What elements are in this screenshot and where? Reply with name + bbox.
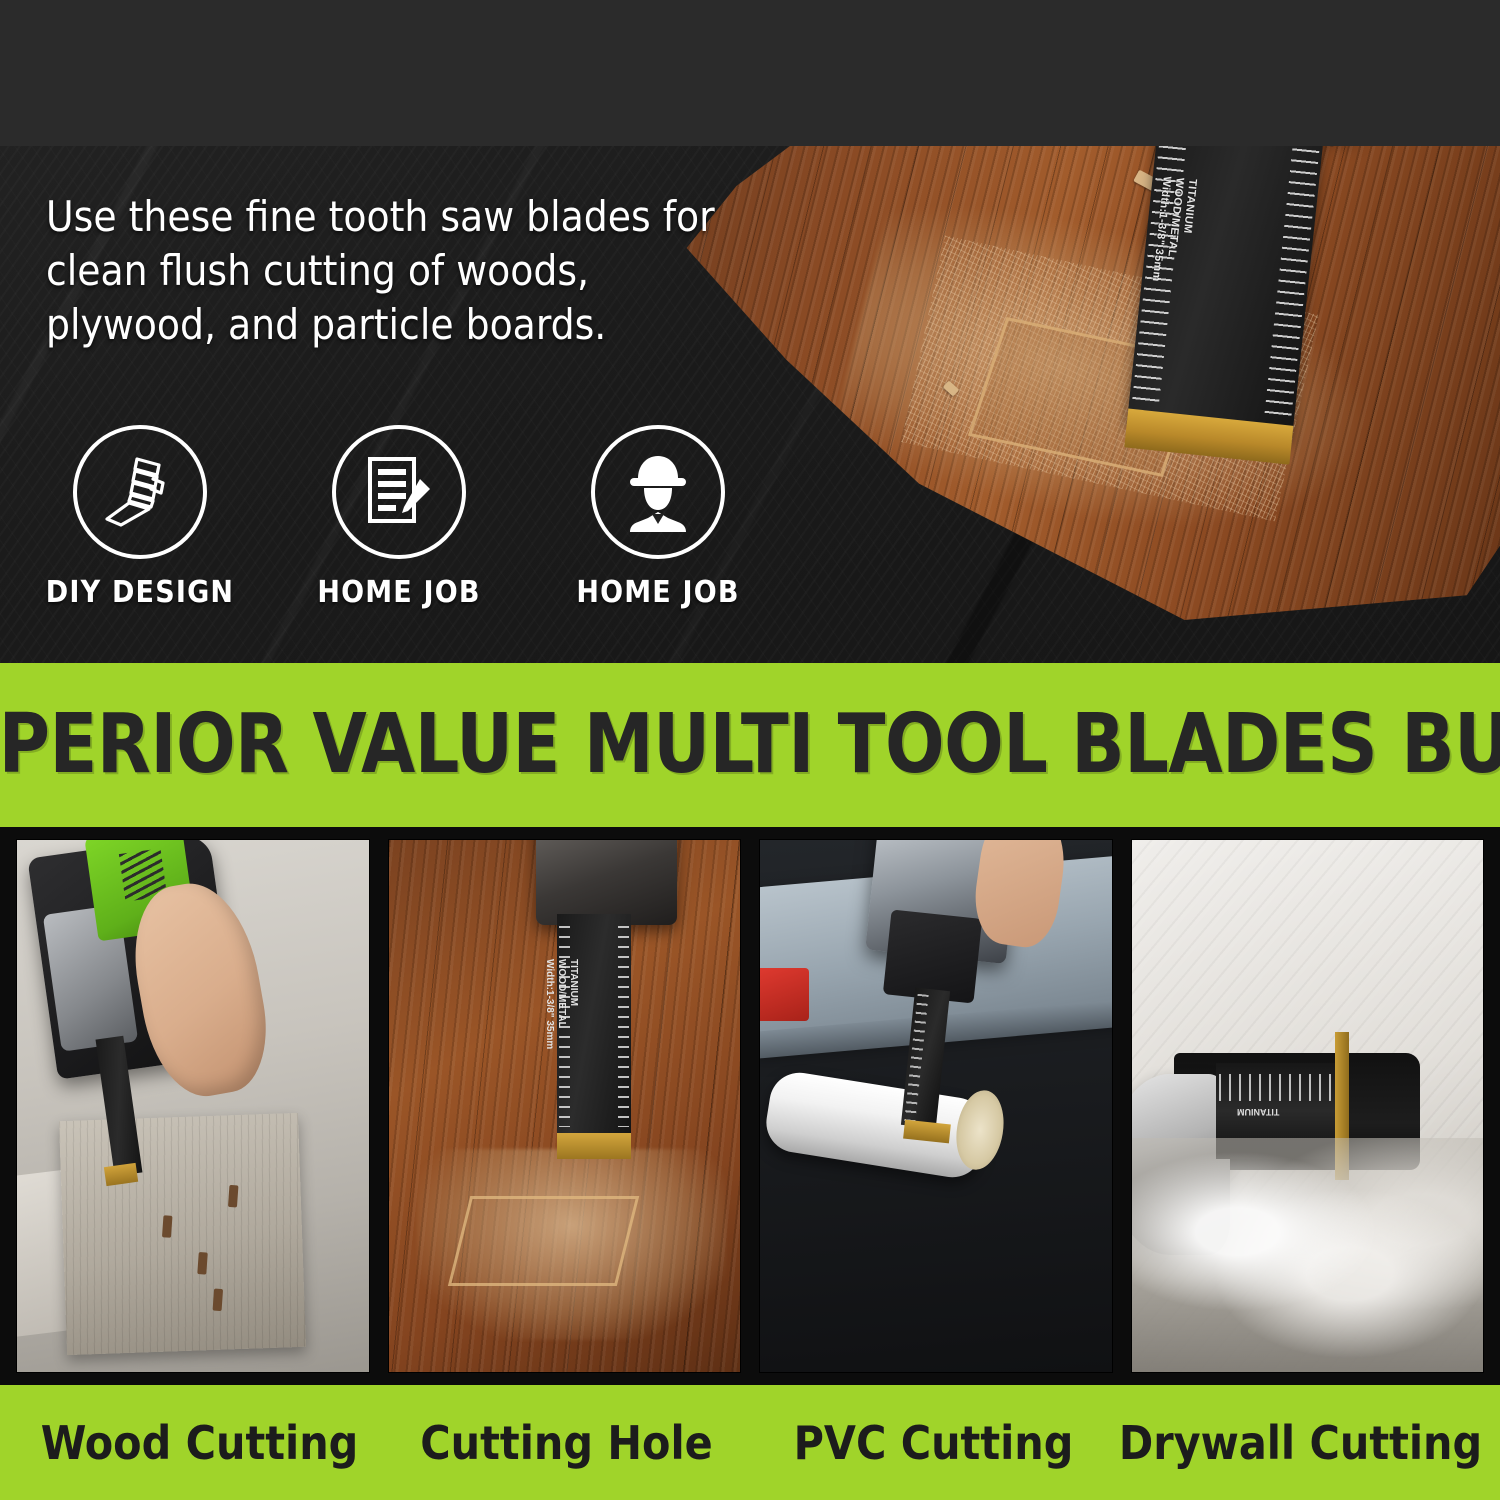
panel2-blade-brand-text: TITANIUM WOOD/METAL Width:1-3/8" 35mm: [543, 959, 579, 1079]
feature-circle: [591, 425, 725, 559]
saw-blade: TITANIUM WOOD/METAL Width:1-3/8" 35mm: [1127, 104, 1326, 442]
nail: [162, 1215, 173, 1238]
panel-cutting-hole: TITANIUM WOOD/METAL Width:1-3/8" 35mm: [388, 839, 742, 1373]
feature-circle: [332, 425, 466, 559]
header-band: [0, 0, 1500, 146]
panel4-blade-brand-text: TITANIUM: [1237, 1106, 1279, 1117]
panel4-blade-ruler: [1219, 1074, 1339, 1101]
feature-icon-row: DIY DESIGN HOME JOB: [40, 425, 758, 610]
panel2-tool-head: [536, 839, 677, 925]
description-text: Use these fine tooth saw blades for clea…: [46, 190, 766, 352]
panel3-red-clamp: [759, 968, 809, 1021]
nail: [228, 1185, 239, 1208]
panel4-blade-line-1: TITANIUM: [1237, 1107, 1279, 1117]
caption-drywall-cutting: Drywall Cutting: [1117, 1416, 1484, 1470]
feature-home-job-worker: HOME JOB: [558, 425, 758, 610]
banner-headline: SUPERIOR VALUE MULTI TOOL BLADES BULK: [0, 704, 1500, 786]
panel2-blade-line-2: WOOD/METAL: [555, 959, 567, 1079]
panel-pvc-cutting: [759, 839, 1113, 1373]
panel1-blade-cutting-edge: [104, 1162, 138, 1185]
oscillating-multi-tool-icon: [97, 449, 183, 535]
panel2-blade-line-3: Width:1-3/8" 35mm: [543, 959, 555, 1079]
feature-label: HOME JOB: [576, 575, 739, 610]
application-photo-grid: TITANIUM WOOD/METAL Width:1-3/8" 35mm: [0, 827, 1500, 1385]
feature-circle: [73, 425, 207, 559]
panel-wood-cutting: [16, 839, 370, 1373]
nail: [212, 1288, 223, 1311]
feature-diy-design: DIY DESIGN: [40, 425, 240, 610]
caption-wood-cutting: Wood Cutting: [16, 1416, 383, 1470]
caption-strip: Wood Cutting Cutting Hole PVC Cutting Dr…: [0, 1385, 1500, 1500]
worker-hardhat-icon: [614, 448, 702, 536]
infographic-page: TITANIUM WOOD/METAL Width:1-3/8" 35mm MU…: [0, 0, 1500, 1500]
nail: [197, 1251, 208, 1274]
document-pencil-icon: [358, 451, 440, 533]
panel2-cut-outline: [448, 1196, 639, 1286]
feature-home-job-document: HOME JOB: [299, 425, 499, 610]
panel2-blade-line-1: TITANIUM: [567, 959, 579, 1079]
panel2-blade-ruler-right: [618, 926, 629, 1127]
feature-label: DIY DESIGN: [46, 575, 234, 610]
panel-drywall-cutting: TITANIUM: [1131, 839, 1485, 1373]
panel1-pallet-board: [59, 1113, 306, 1355]
top-section: TITANIUM WOOD/METAL Width:1-3/8" 35mm MU…: [0, 0, 1500, 663]
caption-cutting-hole: Cutting Hole: [383, 1416, 750, 1470]
panel2-blade-cutting-edge: [557, 1133, 631, 1160]
green-banner: SUPERIOR VALUE MULTI TOOL BLADES BULK: [0, 663, 1500, 827]
caption-pvc-cutting: PVC Cutting: [750, 1416, 1117, 1470]
feature-label: HOME JOB: [317, 575, 480, 610]
panel2-saw-blade: TITANIUM WOOD/METAL Width:1-3/8" 35mm: [557, 914, 631, 1137]
panel4-plaster-debris: [1132, 1138, 1484, 1372]
